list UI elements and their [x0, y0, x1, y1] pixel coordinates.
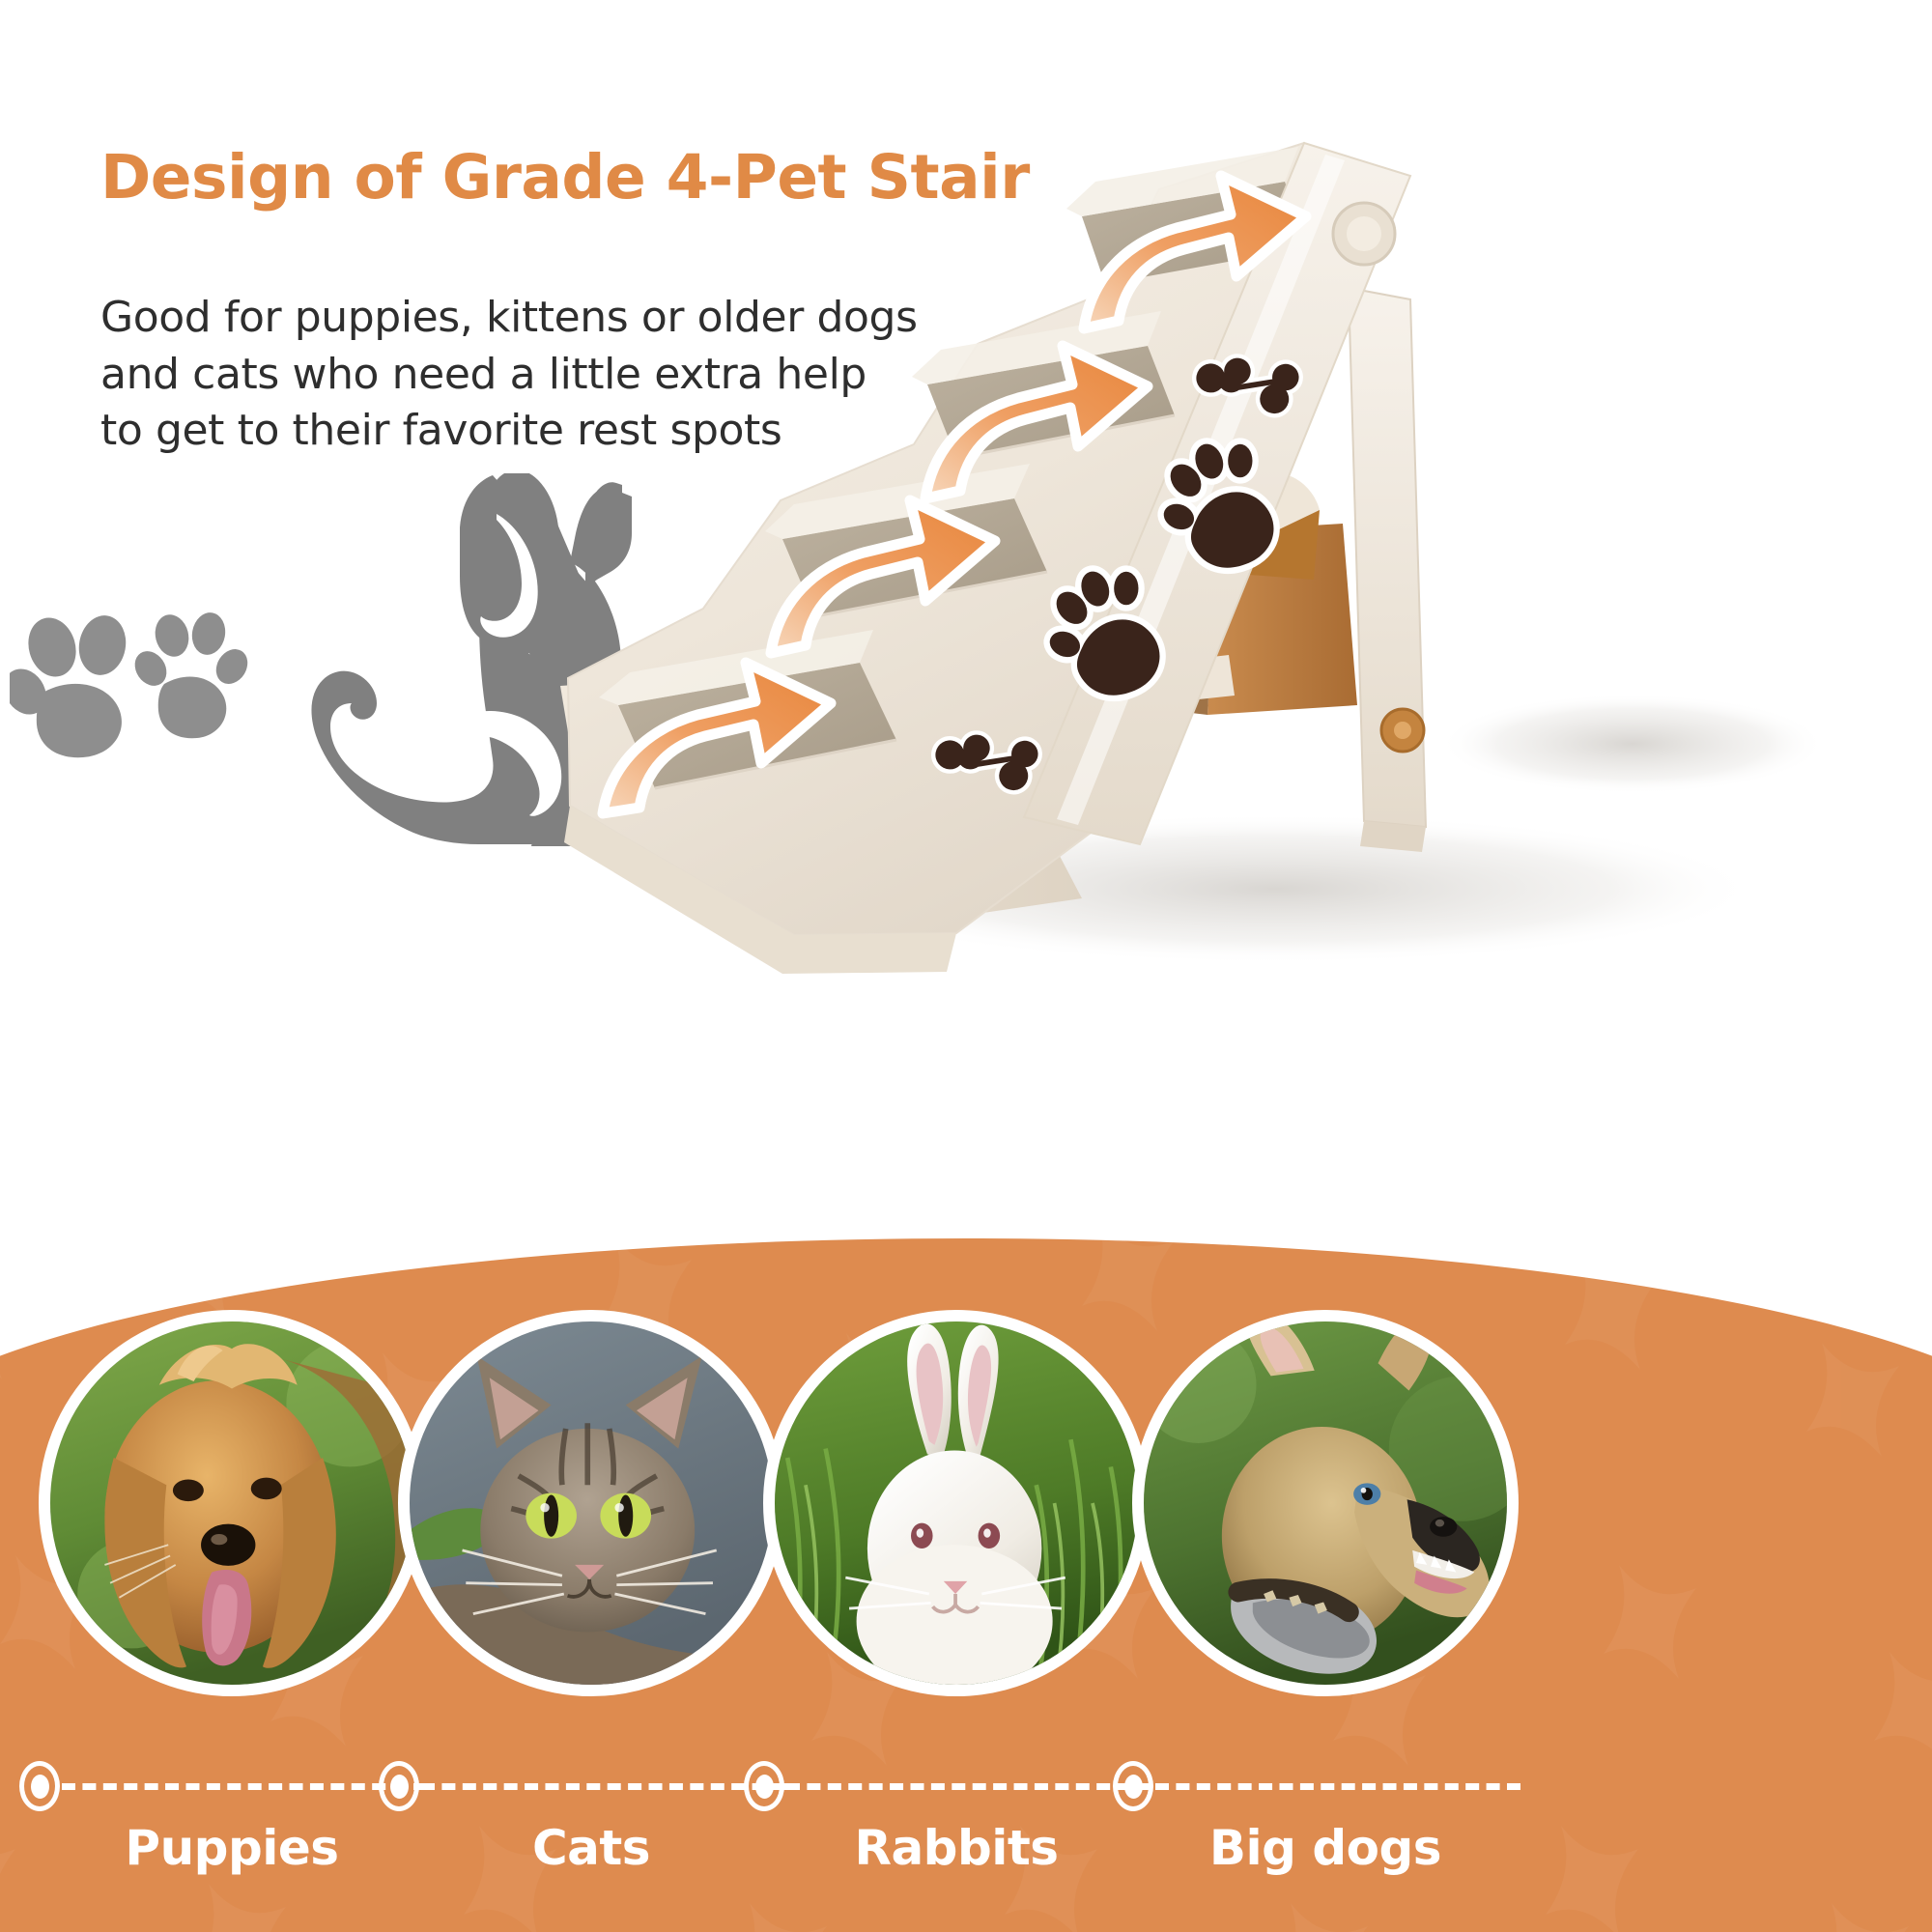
rabbit-photo — [763, 1310, 1150, 1696]
hinge-knob-icon — [1333, 203, 1395, 265]
hinge-screw-icon — [1381, 709, 1424, 752]
connector-dash — [62, 1783, 427, 1790]
product-image-pet-stair — [541, 126, 1932, 976]
connector-line — [744, 1764, 1169, 1808]
pet-type-label: Rabbits — [744, 1820, 1169, 1876]
pet-type-label: Cats — [379, 1820, 804, 1876]
connector-line — [1113, 1764, 1538, 1808]
connector-dash — [1155, 1783, 1520, 1790]
infographic-page: Design of Grade 4-Pet Stair Good for pup… — [0, 0, 1932, 1932]
puppy-photo — [39, 1310, 425, 1696]
pet-type-item[interactable]: Big dogs — [1113, 1310, 1538, 1696]
connector-dot-icon — [19, 1761, 60, 1811]
connector-dash — [786, 1783, 1151, 1790]
connector-dot-icon — [1113, 1761, 1153, 1811]
big-dog-photo — [1132, 1310, 1519, 1696]
connector-line — [379, 1764, 804, 1808]
paw-print-pair-icon — [10, 609, 280, 782]
connector-dot-icon — [379, 1761, 419, 1811]
pet-types-row: Puppies — [0, 1310, 1932, 1764]
cat-photo — [398, 1310, 784, 1696]
pet-type-item[interactable]: Cats — [379, 1310, 804, 1696]
connector-dash — [421, 1783, 786, 1790]
rear-leg-bar — [1349, 288, 1426, 852]
pet-type-label: Big dogs — [1113, 1820, 1538, 1876]
connector-dot-icon — [744, 1761, 784, 1811]
pet-type-item[interactable]: Rabbits — [744, 1310, 1169, 1696]
